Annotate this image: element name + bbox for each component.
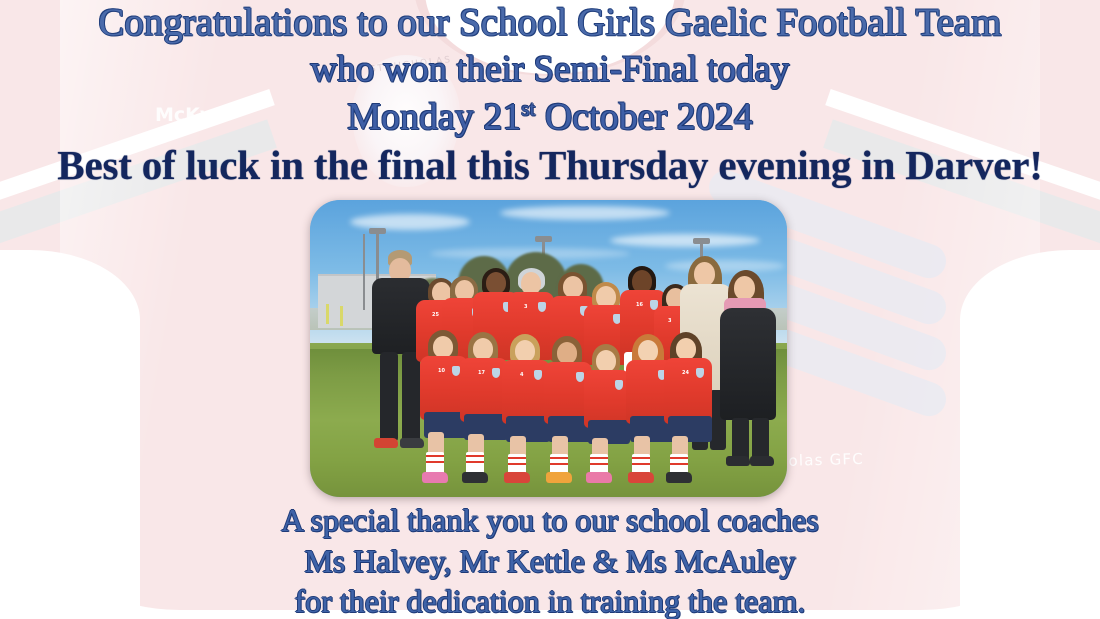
footer-line-2: Ms Halvey, Mr Kettle & Ms McAuley [0, 537, 1100, 578]
footer-line-1: A special thank you to our school coache… [0, 498, 1100, 537]
headline-line-4: Best of luck in the final this Thursday … [0, 136, 1100, 187]
photo-antenna-mast [363, 234, 365, 310]
headline-date-prefix: Monday 21 [347, 96, 521, 138]
footer-line-3: for their dedication in training the tea… [0, 577, 1100, 618]
headline-line-2: who won their Semi-Final today [0, 43, 1100, 89]
headline-line-3-date: Monday 21st October 2024 [0, 89, 1100, 137]
headline-line-1: Congratulations to our School Girls Gael… [0, 0, 1100, 43]
team-photo: 25 3 [310, 200, 787, 497]
headline-date-suffix: October 2024 [535, 96, 752, 138]
footer-block: A special thank you to our school coache… [0, 498, 1100, 618]
headline-date-ordinal: st [521, 96, 535, 120]
poster-canvas: ST NICHOLAS McKvr Congratulations to our… [0, 0, 1100, 619]
headline-block: Congratulations to our School Girls Gael… [0, 0, 1100, 187]
